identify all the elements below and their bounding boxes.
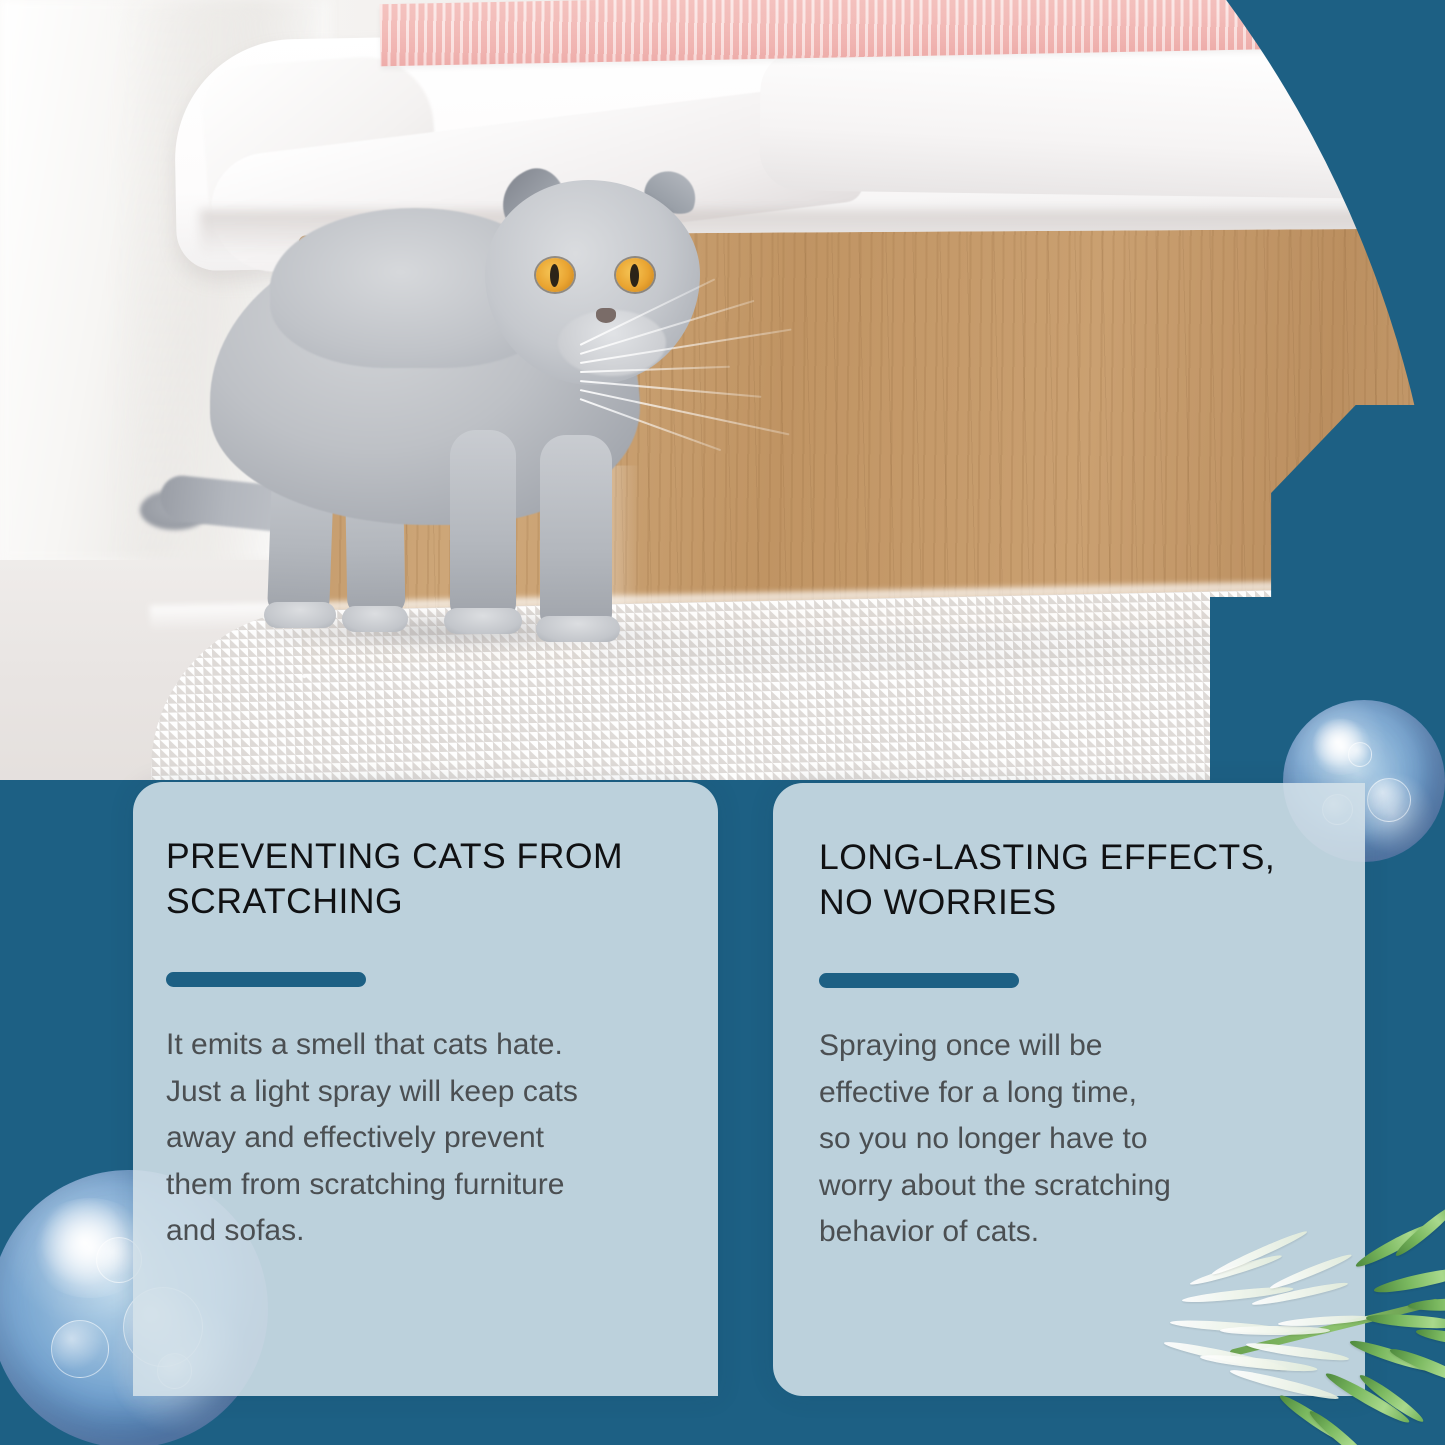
photo-cat-nose xyxy=(596,308,616,323)
card-accent-rule xyxy=(166,972,366,987)
photo-cat-pupil-left xyxy=(550,264,559,287)
photo-cat-paw-1 xyxy=(444,608,522,634)
card-title: PREVENTING CATS FROM SCRATCHING xyxy=(166,834,700,924)
photo-cat xyxy=(150,130,870,700)
photo-cat-paw-4 xyxy=(342,606,408,632)
photo-cat-front-leg-left xyxy=(450,430,516,620)
rosemary-needle xyxy=(1189,1252,1283,1288)
photo-cat-paw-3 xyxy=(264,602,336,628)
photo-cat-front-leg-right xyxy=(540,435,612,630)
photo-cat-eye-left xyxy=(536,258,574,292)
feature-card-preventing-scratching: PREVENTING CATS FROM SCRATCHING It emits… xyxy=(133,782,718,1396)
bubble-inner-3 xyxy=(1348,742,1373,767)
card-title: LONG-LASTING EFFECTS, NO WORRIES xyxy=(819,835,1319,925)
bubble-inner-1 xyxy=(1367,778,1411,822)
card-body-text: Spraying once will be effective for a lo… xyxy=(819,1023,1319,1256)
photo-cat-paw-2 xyxy=(536,616,620,642)
photo-cat-whisker xyxy=(580,329,792,364)
rosemary-needle xyxy=(1388,1344,1445,1387)
rosemary-needle xyxy=(1366,1312,1445,1331)
product-feature-infographic: PREVENTING CATS FROM SCRATCHING It emits… xyxy=(0,0,1445,1445)
rosemary-needle xyxy=(1373,1263,1445,1297)
card-body-text: It emits a smell that cats hate. Just a … xyxy=(166,1022,700,1255)
photo-cat-eye-right xyxy=(616,258,654,292)
card-accent-rule xyxy=(819,973,1019,988)
photo-cat-pupil-right xyxy=(630,264,639,287)
bubble-inner-2 xyxy=(51,1320,109,1378)
rosemary-sprig-icon xyxy=(1160,1240,1445,1445)
photo-cat-whisker xyxy=(580,366,730,373)
photo-cat-whiskers xyxy=(580,326,840,416)
rosemary-needle xyxy=(1415,1326,1445,1349)
rosemary-needle xyxy=(1220,1326,1330,1335)
